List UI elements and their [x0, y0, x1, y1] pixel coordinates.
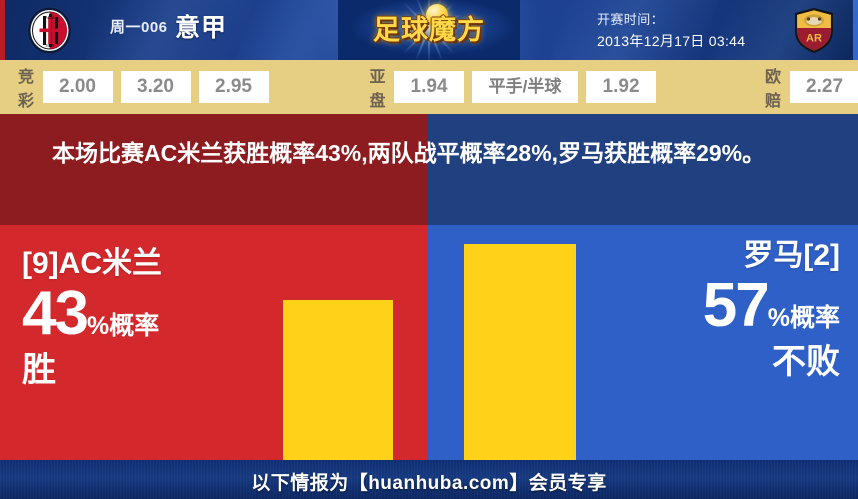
away-probability-suffix: %概率 [768, 304, 840, 332]
footer-message: 以下情报为【huanhuba.com】会员专享 [0, 468, 858, 495]
odds-group-label: 亚盘 [370, 63, 387, 111]
odds-cell-asian-home[interactable]: 1.94 [394, 71, 464, 103]
odds-cell-asian-away[interactable]: 1.92 [586, 71, 656, 103]
odds-group-label: 竞彩 [18, 63, 35, 111]
odds-group-european: 欧赔 2.27 3.28 3.06 [765, 63, 858, 111]
home-probability-row: 43%概率 [22, 283, 272, 345]
brand-logo[interactable]: 足球魔方 [338, 0, 520, 60]
probability-chart: [9]AC米兰 43%概率 胜 罗马[2] 57%概率 不败 [0, 225, 858, 460]
footer-bar: 以下情报为【huanhuba.com】会员专享 [0, 460, 858, 499]
probability-summary-banner: 本场比赛AC米兰获胜概率43%,两队战平概率28%,罗马获胜概率29%。 [0, 114, 858, 225]
away-probability-row: 57%概率 [570, 275, 840, 337]
odds-group-label: 欧赔 [765, 63, 782, 111]
home-team-name: [9]AC米兰 [22, 247, 272, 281]
brand-logo-text: 足球魔方 [338, 8, 520, 47]
svg-text:1899: 1899 [45, 43, 55, 48]
odds-cell-jingcai-home[interactable]: 2.00 [43, 71, 113, 103]
match-probability-infographic: ACM 1899 AR 周一006 意甲 [0, 0, 858, 499]
svg-text:AR: AR [806, 33, 822, 45]
away-verdict: 不败 [570, 343, 840, 381]
home-probability-bar [283, 300, 393, 460]
odds-cell-jingcai-draw[interactable]: 3.20 [121, 71, 191, 103]
kickoff-label: 开赛时间： [597, 9, 664, 28]
odds-cell-euro-home[interactable]: 2.27 [790, 71, 858, 103]
home-team-block: [9]AC米兰 43%概率 胜 [22, 247, 272, 389]
odds-group-asian-handicap: 亚盘 1.94 平手/半球 1.92 [370, 63, 665, 111]
away-team-name: 罗马[2] [570, 239, 840, 273]
as-roma-crest-icon: AR [792, 7, 836, 54]
away-probability-value: 57 [703, 271, 768, 340]
league-name: 意甲 [175, 8, 227, 44]
odds-bar: 竞彩 2.00 3.20 2.95 亚盘 1.94 平手/半球 1.92 欧赔 … [0, 60, 858, 114]
away-probability-bar [464, 244, 576, 460]
header-left-accent [0, 0, 5, 60]
home-verdict: 胜 [22, 351, 272, 389]
home-probability-suffix: %概率 [87, 312, 159, 340]
match-number: 周一006 [110, 16, 168, 37]
home-probability-value: 43 [22, 279, 87, 348]
kickoff-time: 2013年12月17日 03:44 [597, 31, 745, 51]
ac-milan-crest-icon: ACM 1899 [26, 6, 73, 55]
away-team-block: 罗马[2] 57%概率 不败 [570, 239, 840, 381]
odds-group-jingcai: 竞彩 2.00 3.20 2.95 [18, 63, 277, 111]
odds-cell-asian-line[interactable]: 平手/半球 [472, 71, 578, 103]
svg-text:ACM: ACM [45, 15, 55, 20]
probability-summary-text: 本场比赛AC米兰获胜概率43%,两队战平概率28%,罗马获胜概率29%。 [52, 136, 812, 171]
odds-cell-jingcai-away[interactable]: 2.95 [199, 71, 269, 103]
header-bar: ACM 1899 AR 周一006 意甲 [0, 0, 858, 60]
header-right-accent [853, 0, 858, 60]
